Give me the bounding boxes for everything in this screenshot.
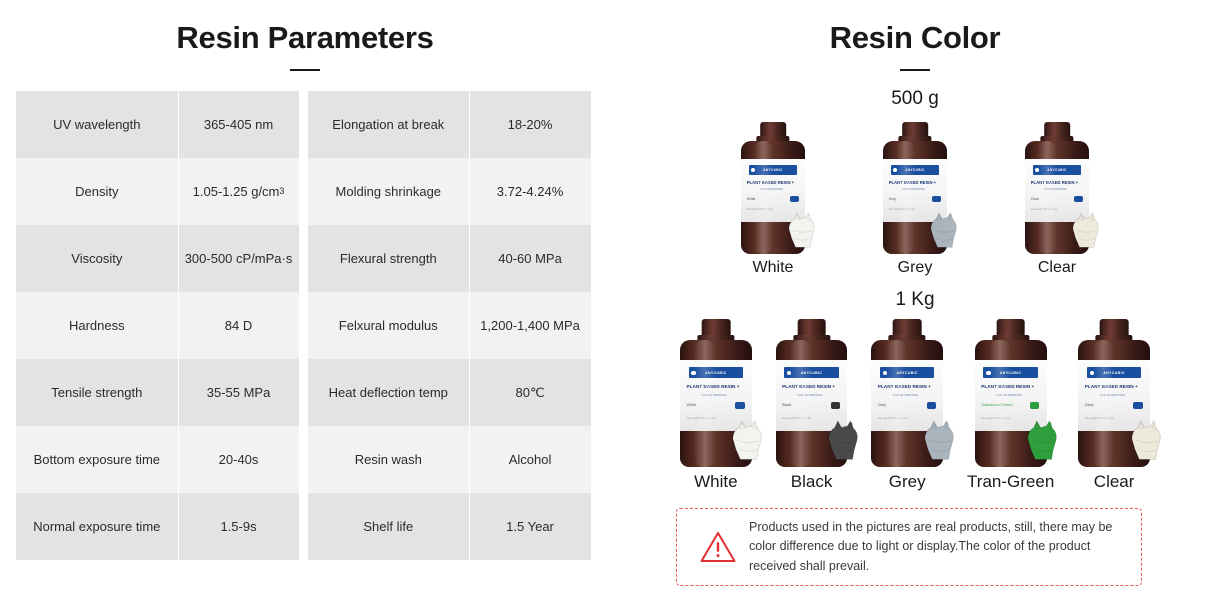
- bottle-brand-text: ANYCUBIC: [705, 371, 727, 375]
- bottle-brand-dot-icon: [1035, 168, 1039, 172]
- printed-model-figurine: [1065, 205, 1105, 253]
- param-value: 80℃: [469, 359, 591, 426]
- printed-model-figurine: [923, 205, 963, 253]
- param-value: 40-60 MPa: [469, 225, 591, 292]
- resin-bottle-item[interactable]: ANYCUBICPLANT BASED RESIN +FOR 3D PRINTI…: [741, 122, 805, 276]
- bottle-fine-print-text: Net weight 500 g / 1 Kg: [686, 416, 715, 420]
- parameters-table-right-half: Elongation at break18-20%Molding shrinka…: [308, 91, 592, 560]
- param-value: 1.5-9s: [178, 493, 300, 560]
- table-row: UV wavelength365-405 nm: [16, 91, 300, 158]
- table-row: Resin washAlcohol: [308, 426, 592, 493]
- table-row: Density1.05-1.25 g/cm3: [16, 158, 300, 225]
- notice-text: Products used in the pictures are real p…: [741, 518, 1127, 576]
- printed-model-figurine: [1123, 412, 1167, 465]
- resin-color-title: Resin Color: [610, 0, 1220, 53]
- bottle-tagline-text: FOR 3D PRINTING: [902, 188, 925, 191]
- bottle-label-badge: [1030, 402, 1039, 409]
- bottle-product-line-text: PLANT BASED RESIN +: [1031, 180, 1078, 185]
- resin-bottle-image: ANYCUBICPLANT BASED RESIN +FOR 3D PRINTI…: [1025, 122, 1089, 254]
- bottle-brand-text: ANYCUBIC: [763, 168, 783, 172]
- bottle-product-line-text: PLANT BASED RESIN +: [1085, 384, 1138, 389]
- bottle-brand-text: ANYCUBIC: [1103, 371, 1125, 375]
- bottle-cap: [1100, 319, 1129, 336]
- warning-triangle-icon: [695, 530, 741, 564]
- bottle-color-name-text: Grey: [878, 403, 886, 407]
- printed-model-figurine: [724, 412, 768, 465]
- bottle-brand-dot-icon: [1090, 371, 1094, 375]
- param-value: 300-500 cP/mPa·s: [178, 225, 300, 292]
- bottle-row-1kg: ANYCUBICPLANT BASED RESIN +FOR 3D PRINTI…: [610, 319, 1220, 490]
- bottle-product-line-text: PLANT BASED RESIN +: [782, 384, 835, 389]
- param-key: Hardness: [16, 292, 178, 359]
- group-500g: 500 g ANYCUBICPLANT BASED RESIN +FOR 3D …: [610, 89, 1220, 276]
- bottle-fine-print-text: Net weight 500 g / 1 Kg: [889, 208, 915, 211]
- param-key: Viscosity: [16, 225, 178, 292]
- param-value: 1,200-1,400 MPa: [469, 292, 591, 359]
- bottle-color-label: Tran-Green: [967, 473, 1054, 490]
- param-key: Bottom exposure time: [16, 426, 178, 493]
- bottle-tagline-text: FOR 3D PRINTING: [702, 393, 727, 397]
- bottle-color-label: Clear: [1038, 260, 1076, 276]
- param-value: 18-20%: [469, 91, 591, 158]
- param-value: 365-405 nm: [178, 91, 300, 158]
- param-key: Molding shrinkage: [308, 158, 470, 225]
- param-key: Heat deflection temp: [308, 359, 470, 426]
- table-row: Tensile strength35-55 MPa: [16, 359, 300, 426]
- bottle-color-name-text: White: [686, 403, 696, 407]
- printed-model-figurine: [916, 412, 960, 465]
- bottle-tagline-text: FOR 3D PRINTING: [797, 393, 822, 397]
- table-row: Normal exposure time1.5-9s: [16, 493, 300, 560]
- bottle-tagline-text: FOR 3D PRINTING: [893, 393, 918, 397]
- bottle-color-name-text: Grey: [889, 197, 896, 201]
- bottle-brand-bar: ANYCUBIC: [880, 367, 934, 378]
- bottle-brand-text: ANYCUBIC: [896, 371, 918, 375]
- bottle-tagline-text: FOR 3D PRINTING: [1100, 393, 1125, 397]
- resin-bottle-image: ANYCUBICPLANT BASED RESIN +FOR 3D PRINTI…: [975, 319, 1047, 467]
- table-row: Shelf life1.5 Year: [308, 493, 592, 560]
- resin-bottle-item[interactable]: ANYCUBICPLANT BASED RESIN +FOR 3D PRINTI…: [1078, 319, 1150, 490]
- bottle-brand-bar: ANYCUBIC: [983, 367, 1037, 378]
- bottle-brand-dot-icon: [691, 371, 695, 375]
- table-row: Bottom exposure time20-40s: [16, 426, 300, 493]
- bottle-product-line-text: PLANT BASED RESIN +: [889, 180, 936, 185]
- bottle-label-badge: [735, 402, 744, 409]
- bottle-brand-text: ANYCUBIC: [1047, 168, 1067, 172]
- resin-parameters-table: UV wavelength365-405 nmDensity1.05-1.25 …: [16, 91, 591, 560]
- bottle-cap: [702, 319, 731, 336]
- resin-bottle-image: ANYCUBICPLANT BASED RESIN +FOR 3D PRINTI…: [1078, 319, 1150, 467]
- bottle-fine-print-text: Net weight 500 g / 1 Kg: [878, 416, 907, 420]
- resin-parameters-title: Resin Parameters: [0, 0, 610, 53]
- param-key: Flexural strength: [308, 225, 470, 292]
- size-label-500g: 500 g: [610, 89, 1220, 108]
- bottle-color-name-text: Clear: [1085, 403, 1094, 407]
- param-key: Shelf life: [308, 493, 470, 560]
- param-key: Density: [16, 158, 178, 225]
- bottle-fine-print-text: Net weight 500 g / 1 Kg: [1031, 208, 1057, 211]
- bottle-brand-bar: ANYCUBIC: [1033, 165, 1082, 175]
- resin-parameters-section: Resin Parameters UV wavelength365-405 nm…: [0, 0, 610, 600]
- resin-bottle-image: ANYCUBICPLANT BASED RESIN +FOR 3D PRINTI…: [776, 319, 848, 467]
- bottle-cap: [893, 319, 922, 336]
- bottle-color-name-text: White: [747, 197, 756, 201]
- bottle-color-label: Grey: [889, 473, 926, 490]
- param-key: Tensile strength: [16, 359, 178, 426]
- bottle-row-500g: ANYCUBICPLANT BASED RESIN +FOR 3D PRINTI…: [610, 122, 1220, 276]
- bottle-cap: [760, 122, 786, 137]
- param-value: 20-40s: [178, 426, 300, 493]
- bottle-product-line-text: PLANT BASED RESIN +: [878, 384, 931, 389]
- group-1kg: 1 Kg ANYCUBICPLANT BASED RESIN +FOR 3D P…: [610, 290, 1220, 490]
- bottle-cap: [996, 319, 1025, 336]
- param-key: Resin wash: [308, 426, 470, 493]
- size-label-1kg: 1 Kg: [610, 290, 1220, 309]
- title-underline-left: [290, 69, 320, 71]
- bottle-brand-dot-icon: [883, 371, 887, 375]
- bottle-tagline-text: FOR 3D PRINTING: [996, 393, 1021, 397]
- resin-bottle-image: ANYCUBICPLANT BASED RESIN +FOR 3D PRINTI…: [680, 319, 752, 467]
- param-value: 1.5 Year: [469, 493, 591, 560]
- resin-bottle-item[interactable]: ANYCUBICPLANT BASED RESIN +FOR 3D PRINTI…: [1025, 122, 1089, 276]
- param-value: 1.05-1.25 g/cm3: [178, 158, 300, 225]
- bottle-cap: [797, 319, 826, 336]
- resin-color-section: Resin Color 500 g ANYCUBICPLANT BASED RE…: [610, 0, 1220, 600]
- bottle-label-badge: [790, 196, 798, 202]
- param-key: Normal exposure time: [16, 493, 178, 560]
- bottle-label-badge: [831, 402, 840, 409]
- printed-model-figurine: [1019, 412, 1063, 465]
- resin-bottle-image: ANYCUBICPLANT BASED RESIN +FOR 3D PRINTI…: [883, 122, 947, 254]
- bottle-color-label: Grey: [898, 260, 933, 276]
- bottle-fine-print-text: Net weight 500 g / 1 Kg: [782, 416, 811, 420]
- bottle-brand-dot-icon: [986, 371, 990, 375]
- bottle-fine-print-text: Net weight 500 g / 1 Kg: [747, 208, 773, 211]
- param-key: Felxural modulus: [308, 292, 470, 359]
- resin-bottle-item[interactable]: ANYCUBICPLANT BASED RESIN +FOR 3D PRINTI…: [883, 122, 947, 276]
- table-row: Felxural modulus1,200-1,400 MPa: [308, 292, 592, 359]
- bottle-brand-bar: ANYCUBIC: [749, 165, 798, 175]
- bottle-cap: [902, 122, 928, 137]
- bottle-brand-dot-icon: [893, 168, 897, 172]
- param-value: Alcohol: [469, 426, 591, 493]
- bottle-brand-text: ANYCUBIC: [905, 168, 925, 172]
- bottle-brand-bar: ANYCUBIC: [784, 367, 838, 378]
- resin-bottle-item[interactable]: ANYCUBICPLANT BASED RESIN +FOR 3D PRINTI…: [776, 319, 848, 490]
- resin-bottle-image: ANYCUBICPLANT BASED RESIN +FOR 3D PRINTI…: [741, 122, 805, 254]
- table-row: Heat deflection temp80℃: [308, 359, 592, 426]
- product-spec-page: Resin Parameters UV wavelength365-405 nm…: [0, 0, 1220, 600]
- bottle-label-badge: [932, 196, 940, 202]
- bottle-fine-print-text: Net weight 500 g / 1 Kg: [981, 416, 1010, 420]
- printed-model-figurine: [820, 412, 864, 465]
- bottle-label-badge: [1074, 196, 1082, 202]
- param-key: Elongation at break: [308, 91, 470, 158]
- bottle-color-name-text: Translucent Green: [981, 403, 1012, 407]
- bottle-cap: [1044, 122, 1070, 137]
- bottle-tagline-text: FOR 3D PRINTING: [1044, 188, 1067, 191]
- param-key: UV wavelength: [16, 91, 178, 158]
- table-row: Flexural strength40-60 MPa: [308, 225, 592, 292]
- bottle-label-badge: [1133, 402, 1142, 409]
- bottle-label-badge: [927, 402, 936, 409]
- resin-bottle-item[interactable]: ANYCUBICPLANT BASED RESIN +FOR 3D PRINTI…: [967, 319, 1054, 490]
- table-row: Elongation at break18-20%: [308, 91, 592, 158]
- bottle-fine-print-text: Net weight 500 g / 1 Kg: [1085, 416, 1114, 420]
- bottle-color-label: Clear: [1094, 473, 1135, 490]
- resin-bottle-image: ANYCUBICPLANT BASED RESIN +FOR 3D PRINTI…: [871, 319, 943, 467]
- bottle-brand-text: ANYCUBIC: [801, 371, 823, 375]
- bottle-product-line-text: PLANT BASED RESIN +: [747, 180, 794, 185]
- bottle-brand-bar: ANYCUBIC: [689, 367, 743, 378]
- parameters-table-left-half: UV wavelength365-405 nmDensity1.05-1.25 …: [16, 91, 300, 560]
- title-underline-right: [900, 69, 930, 71]
- table-row: Molding shrinkage3.72-4.24%: [308, 158, 592, 225]
- bottle-color-label: Black: [791, 473, 833, 490]
- bottle-color-name-text: Clear: [1031, 197, 1039, 201]
- bottle-product-line-text: PLANT BASED RESIN +: [686, 384, 739, 389]
- bottle-brand-text: ANYCUBIC: [1000, 371, 1022, 375]
- table-row: Hardness84 D: [16, 292, 300, 359]
- resin-bottle-item[interactable]: ANYCUBICPLANT BASED RESIN +FOR 3D PRINTI…: [680, 319, 752, 490]
- bottle-brand-bar: ANYCUBIC: [1087, 367, 1141, 378]
- color-difference-notice: Products used in the pictures are real p…: [676, 508, 1142, 586]
- bottle-brand-bar: ANYCUBIC: [891, 165, 940, 175]
- bottle-brand-dot-icon: [751, 168, 755, 172]
- bottle-product-line-text: PLANT BASED RESIN +: [981, 384, 1034, 389]
- bottle-color-label: White: [753, 260, 794, 276]
- printed-model-figurine: [781, 205, 821, 253]
- param-value: 35-55 MPa: [178, 359, 300, 426]
- table-row: Viscosity300-500 cP/mPa·s: [16, 225, 300, 292]
- bottle-color-name-text: Black: [782, 403, 791, 407]
- bottle-tagline-text: FOR 3D PRINTING: [760, 188, 783, 191]
- param-value: 84 D: [178, 292, 300, 359]
- resin-bottle-item[interactable]: ANYCUBICPLANT BASED RESIN +FOR 3D PRINTI…: [871, 319, 943, 490]
- bottle-color-label: White: [694, 473, 737, 490]
- param-value: 3.72-4.24%: [469, 158, 591, 225]
